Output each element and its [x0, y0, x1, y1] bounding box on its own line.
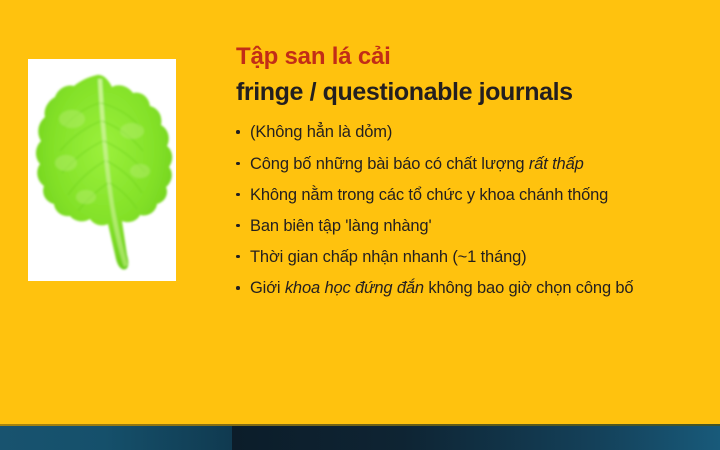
list-item-text-post: không bao giờ chọn công bố: [424, 279, 634, 297]
slide-title-vietnamese: Tập san lá cải: [236, 44, 706, 70]
leaf-illustration-icon: [28, 59, 176, 281]
bullet-dot-icon: [236, 286, 240, 290]
player-bar-left-segment: [0, 426, 232, 450]
leaf-photo-card: [28, 59, 176, 281]
list-item: (Không hẳn là dỏm): [236, 122, 706, 142]
list-item: Giới khoa học đứng đắn không bao giờ chọ…: [236, 278, 706, 298]
slide-frame: Tập san lá cải fringe / questionable jou…: [0, 0, 720, 450]
list-item: Công bố những bài báo có chất lượng rất …: [236, 154, 706, 174]
list-item-text-pre: Công bố những bài báo có chất lượng: [250, 155, 529, 173]
list-item-text: Ban biên tập 'làng nhàng': [250, 217, 431, 235]
bullet-list: (Không hẳn là dỏm) Công bố những bài báo…: [236, 122, 706, 298]
list-item-text-pre: Giới: [250, 279, 285, 297]
player-bar-right-segment: [232, 426, 720, 450]
list-item-text: Không nằm trong các tổ chức y khoa chánh…: [250, 186, 608, 204]
list-item: Thời gian chấp nhận nhanh (~1 tháng): [236, 247, 706, 267]
list-item-text: Thời gian chấp nhận nhanh (~1 tháng): [250, 248, 527, 266]
list-item-text: (Không hẳn là dỏm): [250, 123, 392, 141]
bullet-dot-icon: [236, 130, 240, 134]
slide-title-english: fringe / questionable journals: [236, 78, 706, 106]
list-item-text-emphasis: khoa học đứng đắn: [285, 279, 424, 297]
bullet-dot-icon: [236, 224, 240, 228]
bullet-dot-icon: [236, 193, 240, 197]
bullet-dot-icon: [236, 162, 240, 166]
list-item-text-emphasis: rất thấp: [529, 155, 584, 173]
bullet-dot-icon: [236, 255, 240, 259]
list-item: Ban biên tập 'làng nhàng': [236, 216, 706, 236]
list-item: Không nằm trong các tổ chức y khoa chánh…: [236, 185, 706, 205]
leaf-image: [28, 59, 176, 281]
slide-content: Tập san lá cải fringe / questionable jou…: [236, 44, 706, 309]
video-player-bar[interactable]: [0, 424, 720, 450]
